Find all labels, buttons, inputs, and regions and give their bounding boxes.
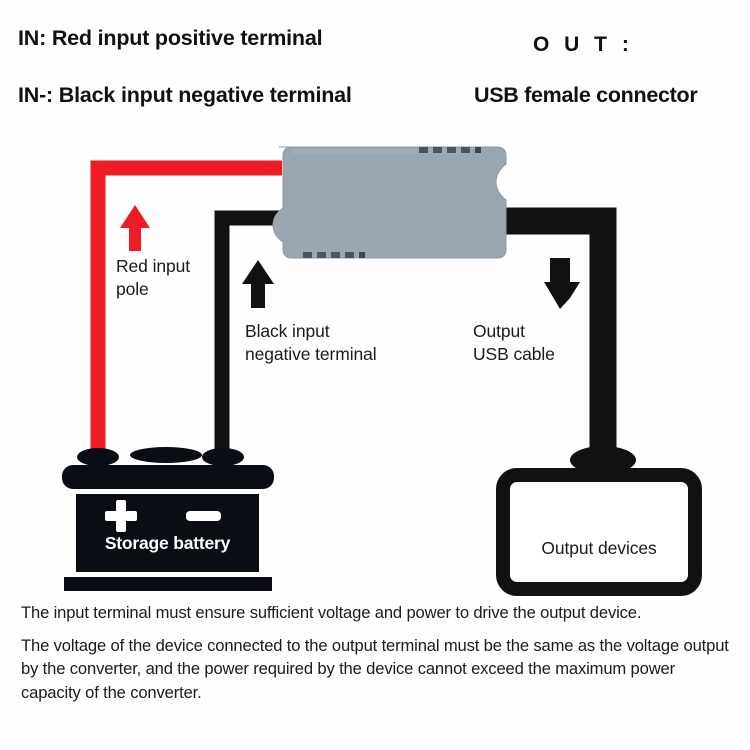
note-item: The input terminal must ensure sufficien… — [21, 601, 737, 625]
storage-battery — [62, 447, 274, 591]
red-up-arrow-icon — [120, 205, 150, 251]
header-input-negative-label: IN-: Black input negative terminal — [18, 85, 352, 107]
note-item: The voltage of the device connected to t… — [21, 634, 737, 705]
footer-notes: The input terminal must ensure sufficien… — [21, 601, 737, 713]
battery-minus-icon — [186, 511, 221, 521]
black-down-arrow-icon — [544, 258, 580, 309]
diagram-canvas: IN: Red input positive terminal IN-: Bla… — [0, 0, 750, 750]
battery-base — [64, 577, 272, 591]
label-output-usb-cable: Output USB cable — [473, 320, 555, 366]
black-up-arrow-icon — [242, 260, 274, 308]
output-device-body — [503, 475, 695, 589]
converter-module — [273, 147, 506, 258]
header-out-title: O U T : — [533, 34, 633, 55]
label-output-devices: Output devices — [506, 538, 692, 559]
header-input-positive-label: IN: Red input positive terminal — [18, 28, 322, 50]
battery-negative-terminal — [202, 448, 244, 466]
label-black-input-negative: Black input negative terminal — [245, 320, 377, 366]
battery-center-cap — [130, 447, 202, 463]
label-storage-battery: Storage battery — [76, 533, 259, 554]
battery-positive-terminal — [77, 448, 119, 466]
output-device — [503, 446, 695, 589]
header-usb-connector-label: USB female connector — [474, 85, 697, 107]
battery-top-bar — [62, 465, 274, 489]
label-red-input-pole: Red input pole — [116, 255, 190, 301]
